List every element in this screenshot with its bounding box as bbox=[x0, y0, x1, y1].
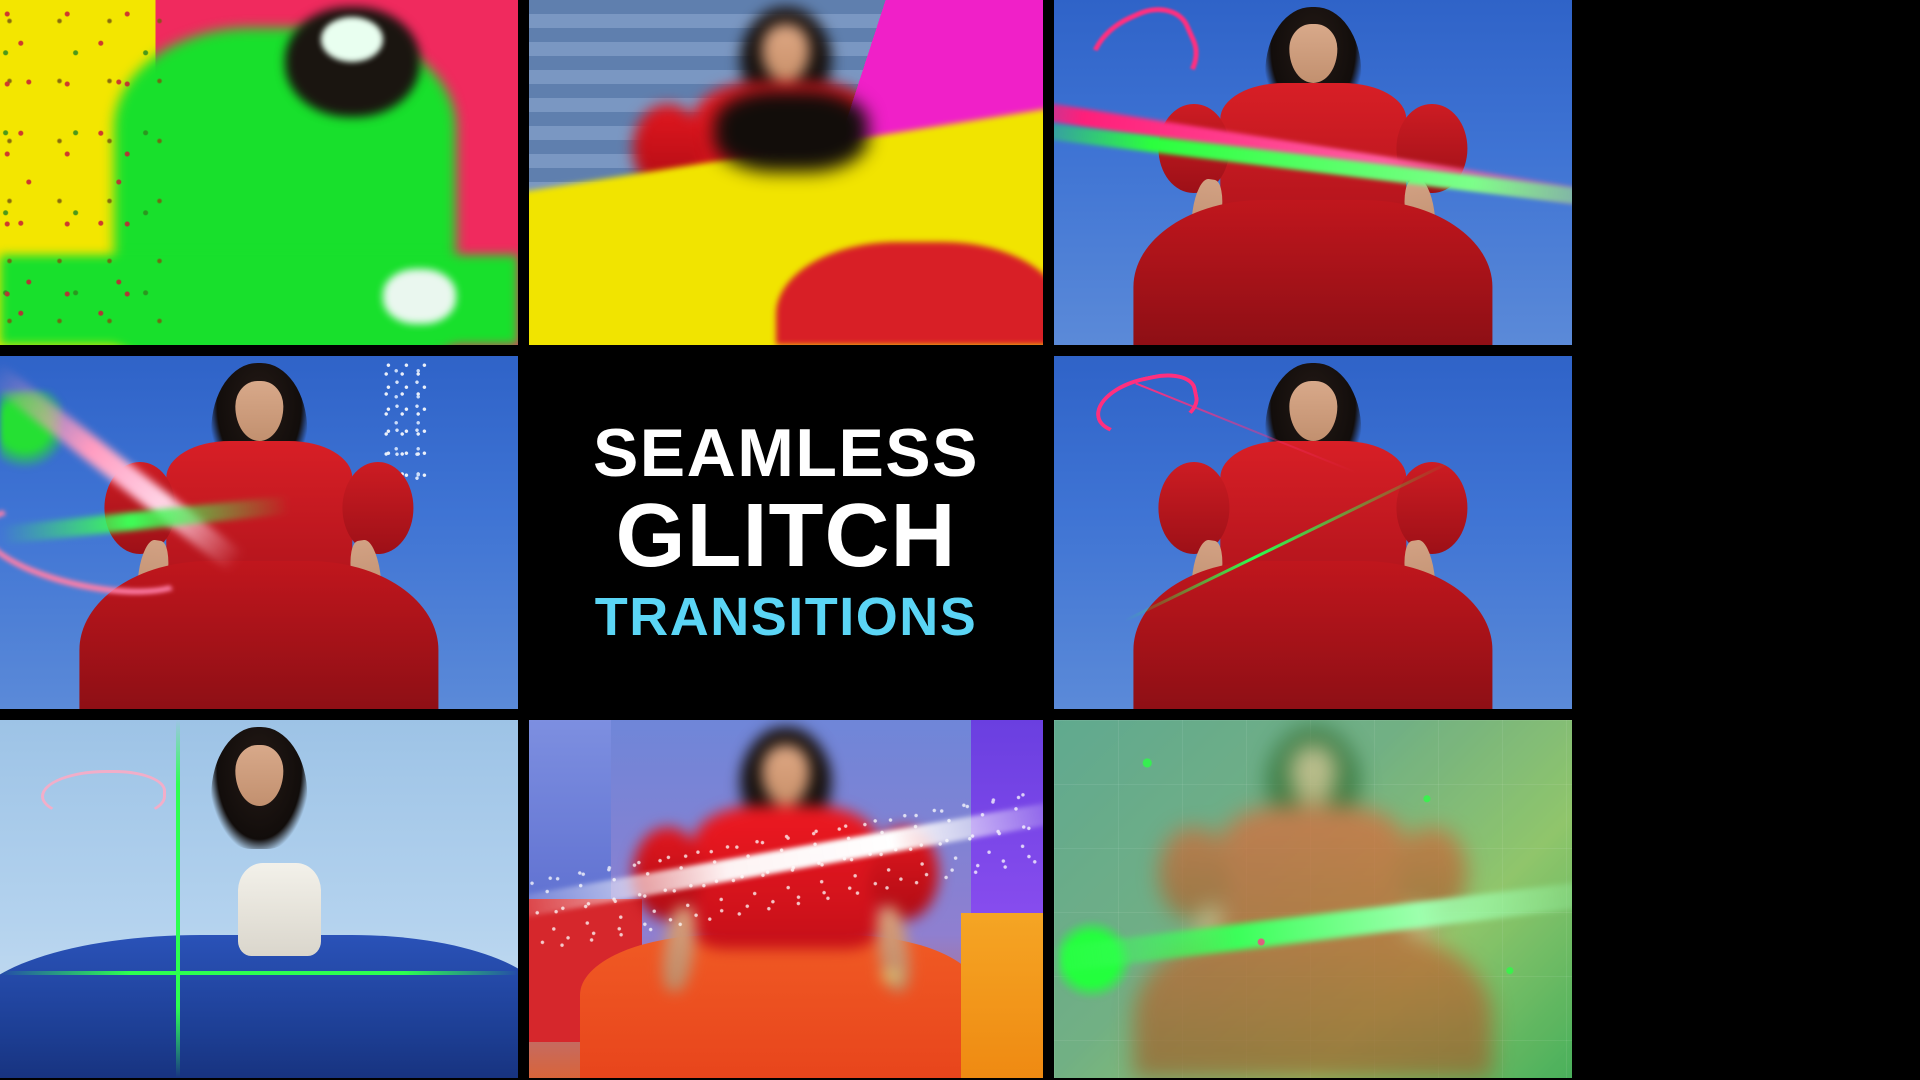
preview-grid: SEAMLESS GLITCH TRANSITIONS bbox=[0, 0, 1920, 1080]
cell7-white-tank-top bbox=[238, 863, 321, 956]
glitch-preview-white-spray-slash[interactable] bbox=[529, 720, 1043, 1078]
glitch-preview-green-chroma-mosaic[interactable] bbox=[1054, 720, 1572, 1078]
title-line-1: SEAMLESS bbox=[593, 419, 979, 488]
glitch-preview-pink-green-spray[interactable] bbox=[1054, 0, 1572, 345]
sleeve-right bbox=[343, 462, 414, 554]
sleeve-left bbox=[1159, 462, 1230, 554]
cell7-green-crosshair-vertical bbox=[176, 720, 180, 1078]
cell1-speckle-noise bbox=[0, 0, 176, 345]
sleeve-right bbox=[1397, 462, 1468, 554]
glitch-preview-light-streaks[interactable] bbox=[0, 356, 518, 709]
cell8-orange-block bbox=[961, 913, 1043, 1078]
glitch-preview-diagonal-wipe[interactable] bbox=[529, 0, 1043, 345]
cell2-dark-smear bbox=[714, 90, 868, 173]
glitch-preview-thin-lines[interactable] bbox=[1054, 356, 1572, 709]
cell9-color-dots bbox=[1054, 720, 1572, 1078]
pants bbox=[1133, 200, 1493, 345]
title-line-3: TRANSITIONS bbox=[595, 589, 978, 646]
glitch-preview-posterized-rgb[interactable] bbox=[0, 0, 518, 345]
glitch-preview-green-crosshair[interactable] bbox=[0, 720, 518, 1078]
pants bbox=[1133, 561, 1493, 709]
cell7-green-crosshair-horizontal bbox=[0, 971, 518, 975]
title-line-2: GLITCH bbox=[616, 491, 957, 581]
cell1-white-face bbox=[321, 17, 383, 62]
wristwatch bbox=[882, 971, 901, 982]
cell1-hand bbox=[383, 269, 456, 324]
title-card: SEAMLESS GLITCH TRANSITIONS bbox=[529, 356, 1043, 709]
